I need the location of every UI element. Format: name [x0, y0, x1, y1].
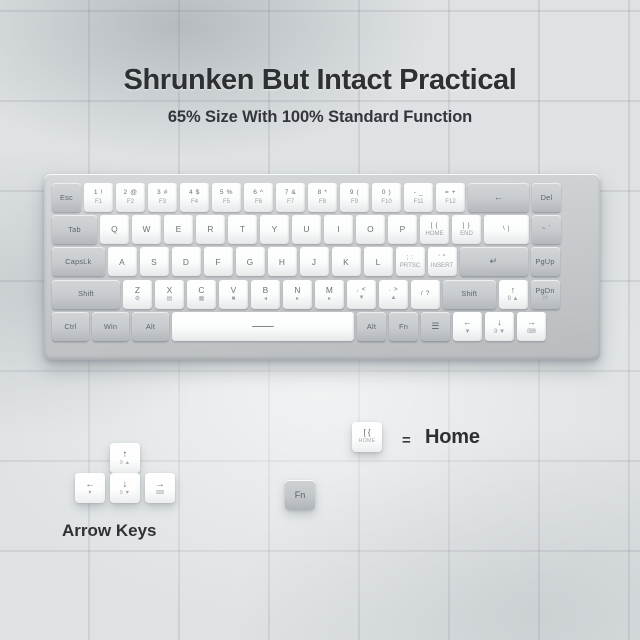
key-alt-legend: 9 ▲	[120, 461, 130, 466]
key-top-legend: ~ `	[542, 226, 552, 233]
key-main-legend: Fn	[295, 491, 306, 500]
key-main-legend: Win	[104, 323, 117, 330]
key-alt-legend: F8	[319, 199, 326, 205]
key-del[interactable]: Del	[532, 183, 561, 212]
key-top-legend: \ |	[503, 226, 510, 233]
key-r[interactable]: R	[196, 215, 225, 244]
key-main-legend: Y	[272, 225, 278, 233]
key-sym[interactable]: [ {HOME	[420, 215, 449, 244]
key-sym[interactable]: ; :PRTSC	[396, 247, 425, 276]
key-main-legend: Del	[541, 194, 553, 201]
key-sym[interactable]: ] }END	[452, 215, 481, 244]
key-top-legend: 9 (	[350, 190, 360, 197]
fn-combo-result-home: Home	[425, 426, 480, 449]
key-main-legend: →	[155, 480, 165, 490]
key-main-legend: V	[231, 286, 237, 294]
key-main-legend: ←	[463, 318, 472, 327]
key-top-legend: ; :	[406, 255, 413, 262]
key-top-legend: 6 ^	[253, 190, 263, 197]
key-sym[interactable]: ↑9 ▲	[499, 280, 528, 309]
key-8[interactable]: 8 *F8	[308, 183, 337, 212]
arrow-up-key[interactable]: ↑9 ▲	[110, 443, 140, 473]
key-main-legend: L	[376, 258, 381, 266]
key-alt-legend: Ⓜ	[542, 296, 548, 302]
key-ctrl[interactable]: Ctrl	[52, 312, 89, 341]
key-esc[interactable]: Esc	[52, 183, 81, 212]
arrow-keys-label: Arrow Keys	[62, 521, 156, 541]
key-main-legend: D	[183, 258, 189, 266]
key-alt-legend: ▼	[464, 329, 470, 335]
key-alt-legend: F12	[445, 199, 456, 205]
key-alt-legend: ⚙	[135, 296, 140, 302]
key-main-legend: PgDn	[535, 287, 554, 294]
key-alt-legend: ⌨	[156, 491, 164, 496]
key-sym[interactable]: , <▼	[347, 280, 376, 309]
key-main-legend: PgUp	[535, 258, 554, 265]
key-main-legend: →	[527, 318, 536, 327]
key-main-legend: I	[337, 225, 340, 233]
key-capslk[interactable]: CapsLk	[52, 247, 105, 276]
key-w[interactable]: W	[132, 215, 161, 244]
key-alt-legend: ■	[232, 296, 236, 302]
function-number-row: Esc1 !F12 @F23 #F34 $F45 %F56 ^F67 &F78 …	[52, 183, 592, 212]
key-3[interactable]: 3 #F3	[148, 183, 177, 212]
key-o[interactable]: O	[356, 215, 385, 244]
key-top-legend: 8 *	[318, 190, 328, 197]
key-main-legend: R	[207, 225, 213, 233]
key-alt-legend: ▼	[358, 295, 364, 301]
key-fn[interactable]: Fn	[389, 312, 418, 341]
page-title: Shrunken But Intact Practical	[0, 64, 640, 97]
key-main-legend: ☰	[431, 322, 439, 331]
key-main-legend: J	[312, 258, 316, 266]
key-main-legend: Ctrl	[64, 323, 76, 330]
key-alt-legend: F7	[287, 199, 294, 205]
fn-combo-keycap-home[interactable]: [ {HOME	[352, 422, 382, 452]
key-main-legend: CapsLk	[65, 258, 91, 265]
key-main-legend: K	[343, 258, 349, 266]
key-9[interactable]: 9 (F9	[340, 183, 369, 212]
key-b[interactable]: B◂	[251, 280, 280, 309]
key-top-legend: - _	[414, 190, 424, 197]
key-main-legend: ↵	[490, 257, 498, 266]
key-main-legend: Z	[135, 286, 140, 294]
key-main-legend: Esc	[60, 194, 73, 201]
key-n[interactable]: N▸	[283, 280, 312, 309]
key-top-legend: 7 &	[285, 190, 297, 197]
key-alt-legend: F4	[191, 199, 198, 205]
key-z[interactable]: Z⚙	[123, 280, 152, 309]
arrow-down-key[interactable]: ↓9 ▼	[110, 473, 140, 503]
key-sym[interactable]: . >▲	[379, 280, 408, 309]
key-main-legend: F	[215, 258, 220, 266]
key-alt-legend: ▸	[328, 296, 331, 302]
key-pgup[interactable]: PgUp	[531, 247, 560, 276]
page-subtitle: 65% Size With 100% Standard Function	[0, 108, 640, 127]
spacebar-dash-icon	[252, 326, 274, 327]
key-alt-legend: ▦	[199, 296, 205, 302]
key-alt-legend: F5	[223, 199, 230, 205]
key-main-legend: C	[198, 286, 204, 294]
key-main-legend: Shift	[461, 290, 477, 297]
key-sym[interactable]: ☰	[421, 312, 450, 341]
key-sym[interactable]: \ |	[484, 215, 529, 244]
key-s[interactable]: S	[140, 247, 169, 276]
key-alt-legend: ◂	[264, 296, 267, 302]
keyboard: Esc1 !F12 @F23 #F34 $F45 %F56 ^F67 &F78 …	[44, 174, 600, 360]
key-top-legend: ] }	[463, 223, 471, 230]
key-t[interactable]: T	[228, 215, 257, 244]
key-c[interactable]: C▦	[187, 280, 216, 309]
key-top-legend: = +	[445, 190, 456, 197]
key-0[interactable]: 0 )F10	[372, 183, 401, 212]
key-alt-legend: ▤	[167, 296, 173, 302]
key-main-legend: Q	[111, 225, 118, 233]
key-alt-legend: INSERT	[431, 263, 453, 269]
key-sym[interactable]: ↵	[460, 247, 528, 276]
key-alt-legend: END	[460, 231, 473, 237]
key-main-legend: G	[247, 258, 254, 266]
key-main-legend: E	[176, 225, 182, 233]
key-main-legend: X	[167, 286, 173, 294]
key-sym[interactable]: = +F12	[436, 183, 465, 212]
key-main-legend: N	[294, 286, 300, 294]
key-main-legend: ↑	[511, 286, 516, 295]
key-f[interactable]: F	[204, 247, 233, 276]
key-top-legend: 0 )	[382, 190, 392, 197]
key-q[interactable]: Q	[100, 215, 129, 244]
key-alt-legend: F2	[127, 199, 134, 205]
key-m[interactable]: M▸	[315, 280, 344, 309]
key-i[interactable]: I	[324, 215, 353, 244]
key-main-legend: B	[263, 286, 269, 294]
key-6[interactable]: 6 ^F6	[244, 183, 273, 212]
key-top-legend: 4 $	[189, 190, 200, 197]
key-main-legend: W	[142, 225, 150, 233]
key-alt-legend: ▲	[390, 295, 396, 301]
key-pgdn[interactable]: PgDnⓂ	[531, 280, 560, 309]
key-top-legend: [ {	[431, 223, 439, 230]
key-sym[interactable]: ←	[468, 183, 529, 212]
key-sym[interactable]: ←▼	[453, 312, 482, 341]
bottom-row: CtrlWinAltAltFn☰←▼↓9 ▼→⌨	[52, 312, 592, 341]
key-alt-legend: HOME	[359, 439, 376, 444]
key-alt-legend: 9 ▲	[507, 296, 518, 302]
key-alt-legend: ▼	[87, 491, 93, 496]
key-main-legend: T	[240, 225, 245, 233]
key-sym[interactable]: ' "INSERT	[428, 247, 457, 276]
key-main-legend: ←	[494, 193, 503, 202]
key-tab[interactable]: Tab	[52, 215, 97, 244]
key-e[interactable]: E	[164, 215, 193, 244]
key-main-legend: S	[151, 258, 157, 266]
key-1[interactable]: 1 !F1	[84, 183, 113, 212]
key-alt-legend: PRTSC	[400, 263, 421, 269]
key-alt-legend: ⌨	[527, 329, 536, 335]
key-alt-legend: HOME	[425, 231, 443, 237]
key-sym[interactable]: / ?	[411, 280, 440, 309]
key-top-legend: 1 !	[94, 190, 103, 197]
key-sym[interactable]: ~ `	[532, 215, 561, 244]
key-main-legend: U	[303, 225, 309, 233]
key-main-legend: Fn	[399, 323, 408, 330]
equals-sign-home: =	[402, 432, 411, 449]
key-a[interactable]: A	[108, 247, 137, 276]
key-g[interactable]: G	[236, 247, 265, 276]
key-shift[interactable]: Shift	[52, 280, 120, 309]
key-top-legend: 5 %	[220, 190, 233, 197]
key-alt-legend: F1	[95, 199, 102, 205]
key-main-legend: Alt	[367, 323, 376, 330]
shift-row: ShiftZ⚙X▤C▦V■B◂N▸M▸, <▼. >▲/ ?Shift↑9 ▲P…	[52, 280, 592, 309]
fn-key[interactable]: Fn	[285, 480, 315, 510]
key-alt-legend: F6	[255, 199, 262, 205]
arrow-left-key[interactable]: ←▼	[75, 473, 105, 503]
key-h[interactable]: H	[268, 247, 297, 276]
key-alt[interactable]: Alt	[357, 312, 386, 341]
key-x[interactable]: X▤	[155, 280, 184, 309]
key-sym[interactable]: →⌨	[517, 312, 546, 341]
heading-block: Shrunken But Intact Practical 65% Size W…	[0, 64, 640, 127]
key-alt-legend: F3	[159, 199, 166, 205]
key-p[interactable]: P	[388, 215, 417, 244]
key-main-legend: O	[367, 225, 374, 233]
key-main-legend: Alt	[146, 323, 155, 330]
key-d[interactable]: D	[172, 247, 201, 276]
key-spacebar[interactable]	[172, 312, 354, 341]
key-7[interactable]: 7 &F7	[276, 183, 305, 212]
key-shift[interactable]: Shift	[443, 280, 496, 309]
key-top-legend: 3 #	[157, 190, 168, 197]
arrow-right-key[interactable]: →⌨	[145, 473, 175, 503]
key-top-legend: , <	[357, 287, 366, 294]
key-alt-legend: F11	[413, 199, 423, 205]
key-main-legend: ↑	[123, 450, 128, 460]
key-top-legend: . >	[389, 287, 398, 294]
key-alt-legend: ▸	[296, 296, 299, 302]
key-main-legend: H	[279, 258, 285, 266]
key-alt-legend: 9 ▼	[494, 329, 505, 335]
key-main-legend: P	[400, 225, 406, 233]
key-alt[interactable]: Alt	[132, 312, 169, 341]
key-2[interactable]: 2 @F2	[116, 183, 145, 212]
key-main-legend: ↓	[123, 480, 128, 490]
key-top-legend: [ {	[363, 429, 370, 437]
key-top-legend: 2 @	[124, 190, 138, 197]
key-win[interactable]: Win	[92, 312, 129, 341]
tab-row: TabQWERTYUIOP[ {HOME] }END\ |~ `	[52, 215, 592, 244]
key-main-legend: Tab	[68, 226, 81, 233]
key-alt-legend: 9 ▼	[120, 491, 130, 496]
key-k[interactable]: K	[332, 247, 361, 276]
key-l[interactable]: L	[364, 247, 393, 276]
key-top-legend: ' "	[438, 255, 445, 262]
key-5[interactable]: 5 %F5	[212, 183, 241, 212]
key-4[interactable]: 4 $F4	[180, 183, 209, 212]
key-sym[interactable]: - _F11	[404, 183, 433, 212]
key-main-legend: A	[119, 258, 125, 266]
key-main-legend: ←	[85, 480, 95, 490]
key-sym[interactable]: ↓9 ▼	[485, 312, 514, 341]
key-j[interactable]: J	[300, 247, 329, 276]
key-y[interactable]: Y	[260, 215, 289, 244]
key-top-legend: / ?	[421, 291, 430, 298]
key-u[interactable]: U	[292, 215, 321, 244]
key-alt-legend: F10	[381, 199, 392, 205]
capslock-row: CapsLkASDFGHJKL; :PRTSC' "INSERT↵PgUp	[52, 247, 592, 276]
key-main-legend: M	[326, 286, 333, 294]
key-main-legend: ↓	[497, 318, 502, 327]
key-main-legend: Shift	[78, 290, 94, 297]
key-v[interactable]: V■	[219, 280, 248, 309]
key-alt-legend: F9	[351, 199, 358, 205]
